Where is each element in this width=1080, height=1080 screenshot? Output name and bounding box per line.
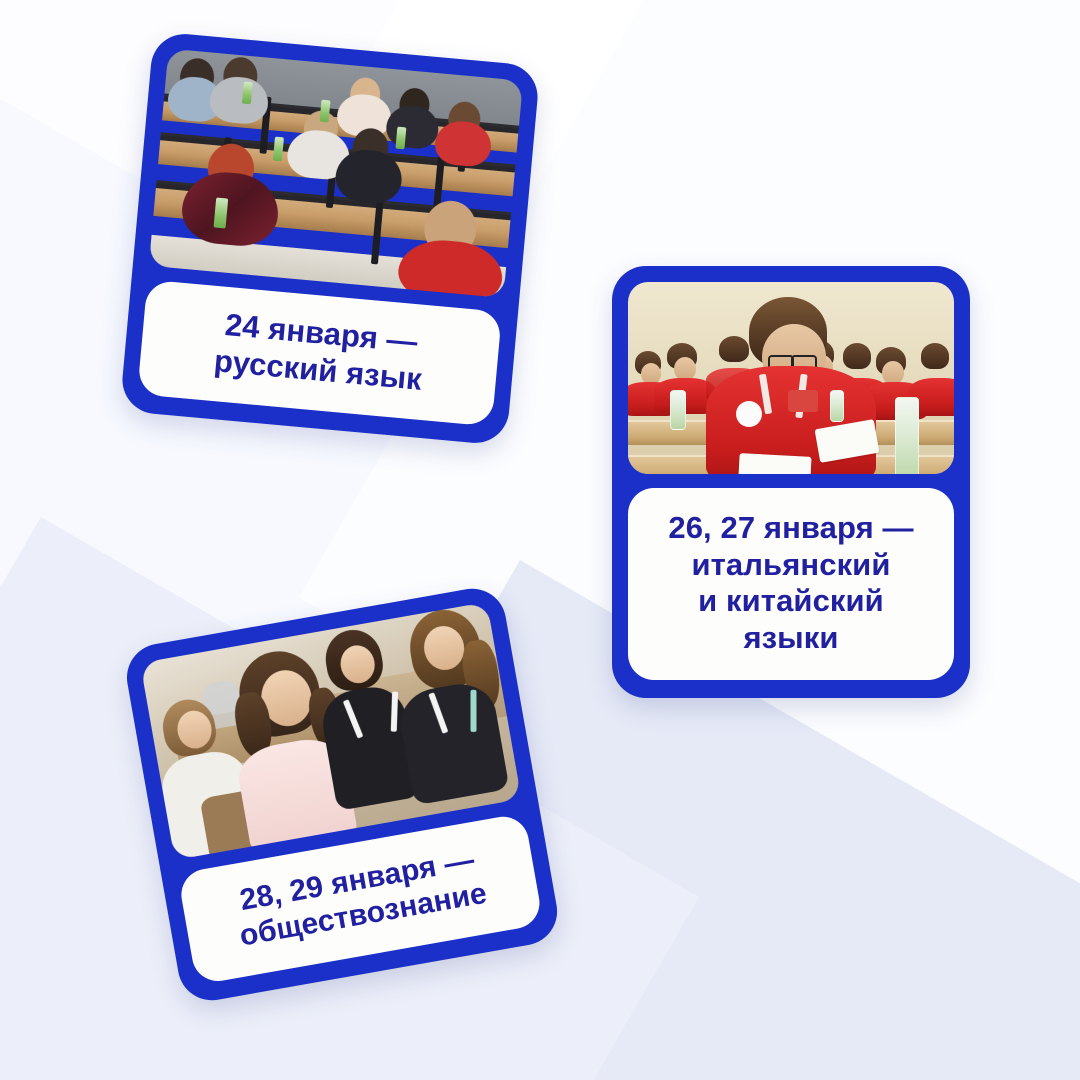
exam-writing-photo xyxy=(628,282,954,474)
water-bottle xyxy=(670,390,686,430)
water-bottle xyxy=(830,390,844,423)
lecture-hall-scene xyxy=(149,49,523,298)
schedule-card-social-studies[interactable]: 28, 29 января — обществознание xyxy=(122,583,563,1005)
lecture-hall-photo xyxy=(149,49,523,298)
poster-canvas: 24 января — русский язык xyxy=(0,0,1080,1080)
exam-paper xyxy=(738,453,811,474)
schedule-card-russian[interactable]: 24 января — русский язык xyxy=(120,31,541,446)
schedule-card-languages[interactable]: 26, 27 января — итальянский и китайский … xyxy=(612,266,970,698)
card-label-russian: 24 января — русский язык xyxy=(137,280,502,427)
shirt-logo xyxy=(736,401,762,427)
card-label-languages: 26, 27 января — итальянский и китайский … xyxy=(628,488,954,680)
exam-room-scene xyxy=(628,282,954,474)
students-smiling-photo xyxy=(140,602,521,860)
student-body xyxy=(180,168,282,248)
water-bottle xyxy=(895,397,919,474)
id-badge xyxy=(788,390,818,412)
students-smiling-scene xyxy=(140,602,521,860)
lanyard-strap xyxy=(470,690,476,732)
